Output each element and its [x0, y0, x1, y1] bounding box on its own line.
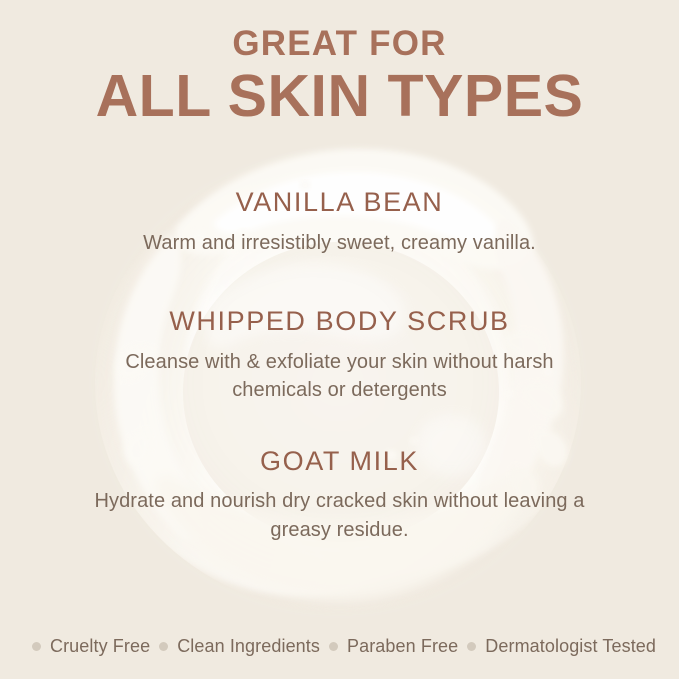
benefit-section-vanilla-bean: VANILLA BEAN Warm and irresistibly sweet…: [0, 186, 679, 257]
bullet-dot-icon: [467, 642, 476, 651]
section-body: Cleanse with & exfoliate your skin witho…: [90, 348, 590, 405]
claim-badge-label: Dermatologist Tested: [485, 636, 656, 657]
page-title: ALL SKIN TYPES: [0, 67, 679, 126]
claim-badge-dermatologist-tested: Dermatologist Tested: [458, 636, 656, 657]
claim-badge-label: Cruelty Free: [50, 636, 150, 657]
benefit-section-whipped-body-scrub: WHIPPED BODY SCRUB Cleanse with & exfoli…: [0, 305, 679, 405]
section-body: Hydrate and nourish dry cracked skin wit…: [90, 487, 590, 544]
footer-claims-list: Cruelty Free Clean Ingredients Paraben F…: [0, 636, 679, 657]
bullet-dot-icon: [32, 642, 41, 651]
claim-badge-label: Clean Ingredients: [177, 636, 320, 657]
claim-badge-cruelty-free: Cruelty Free: [23, 636, 150, 657]
bullet-dot-icon: [329, 642, 338, 651]
benefit-section-goat-milk: GOAT MILK Hydrate and nourish dry cracke…: [0, 445, 679, 545]
section-heading: WHIPPED BODY SCRUB: [0, 305, 679, 339]
section-heading: VANILLA BEAN: [0, 186, 679, 220]
benefit-sections: VANILLA BEAN Warm and irresistibly sweet…: [0, 186, 679, 544]
claim-badge-paraben-free: Paraben Free: [320, 636, 458, 657]
claim-badge-clean-ingredients: Clean Ingredients: [150, 636, 320, 657]
claim-badge-label: Paraben Free: [347, 636, 458, 657]
section-body: Warm and irresistibly sweet, creamy vani…: [90, 229, 590, 257]
title-block: GREAT FOR ALL SKIN TYPES: [0, 26, 679, 126]
content-layer: GREAT FOR ALL SKIN TYPES VANILLA BEAN Wa…: [0, 0, 679, 679]
bullet-dot-icon: [159, 642, 168, 651]
product-benefits-infographic: GREAT FOR ALL SKIN TYPES VANILLA BEAN Wa…: [0, 0, 679, 679]
eyebrow-heading: GREAT FOR: [0, 26, 679, 61]
section-heading: GOAT MILK: [0, 445, 679, 479]
